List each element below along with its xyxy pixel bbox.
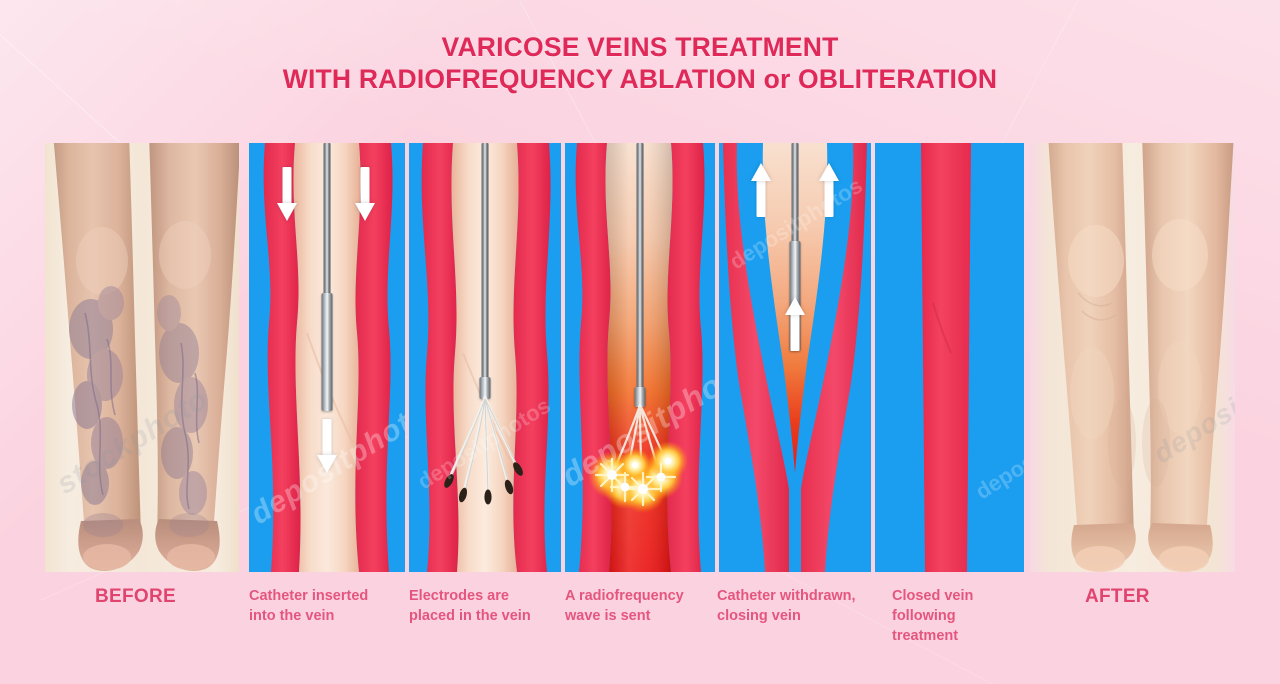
caption-step-5-line-3: treatment: [892, 626, 1022, 646]
catheter-tip: [322, 293, 333, 411]
caption-step-1: Catheter inserted into the vein: [249, 586, 401, 626]
title-line-2: WITH RADIOFREQUENCY ABLATION or OBLITERA…: [0, 63, 1280, 95]
caption-row: BEFORE Catheter inserted into the vein E…: [45, 586, 1240, 676]
caption-step-4-line-2: closing vein: [717, 606, 875, 626]
photo-before-treatment: stockphoto: [45, 143, 239, 572]
flow-arrow-up: [751, 161, 771, 217]
caption-step-4-line-1: Catheter withdrawn,: [717, 586, 875, 606]
flow-arrow-down: [277, 167, 297, 223]
infographic-canvas: VARICOSE VEINS TREATMENT WITH RADIOFREQU…: [0, 0, 1280, 684]
title-line-1: VARICOSE VEINS TREATMENT: [442, 32, 839, 62]
electrode-wires-active: [565, 143, 715, 572]
catheter-shaft: [792, 143, 799, 245]
caption-step-5-line-2: following: [892, 606, 1022, 626]
caption-step-2-line-2: placed in the vein: [409, 606, 559, 626]
page-title: VARICOSE VEINS TREATMENT WITH RADIOFREQU…: [0, 31, 1280, 95]
flow-arrow-up: [785, 295, 805, 351]
caption-step-1-line-2: into the vein: [249, 606, 401, 626]
illustration-step-2: depositphotos: [409, 143, 561, 572]
flow-arrow-up: [819, 161, 839, 217]
illustration-step-1: depositphotos: [249, 143, 405, 572]
electrode-wires: [409, 143, 561, 572]
caption-step-5-line-1: Closed vein: [892, 586, 1022, 606]
caption-step-3-line-2: wave is sent: [565, 606, 715, 626]
photo-after-treatment: depositphotos: [1030, 143, 1235, 572]
caption-step-2: Electrodes are placed in the vein: [409, 586, 559, 626]
catheter-shaft: [324, 143, 331, 296]
flow-arrow-down: [317, 419, 337, 475]
caption-step-2-line-1: Electrodes are: [409, 586, 559, 606]
spark-cluster: [588, 441, 688, 513]
caption-step-4: Catheter withdrawn, closing vein: [717, 586, 875, 626]
vein-cross-section-5-closed: [875, 143, 1024, 572]
caption-step-5: Closed vein following treatment: [892, 586, 1022, 646]
caption-before: BEFORE: [95, 586, 176, 608]
caption-step-3: A radiofrequency wave is sent: [565, 586, 715, 626]
flow-arrow-down: [355, 167, 375, 223]
illustration-step-5: depositphotos: [875, 143, 1024, 572]
before-legs-image: [45, 143, 239, 572]
caption-after: AFTER: [1085, 586, 1150, 608]
caption-step-1-line-1: Catheter inserted: [249, 586, 401, 606]
illustration-step-3: depositphotos: [565, 143, 715, 572]
illustration-step-4: depositphotos: [719, 143, 871, 572]
panel-strip: stockphoto: [45, 143, 1235, 572]
after-legs-image: [1030, 143, 1235, 572]
caption-step-3-line-1: A radiofrequency: [565, 586, 715, 606]
